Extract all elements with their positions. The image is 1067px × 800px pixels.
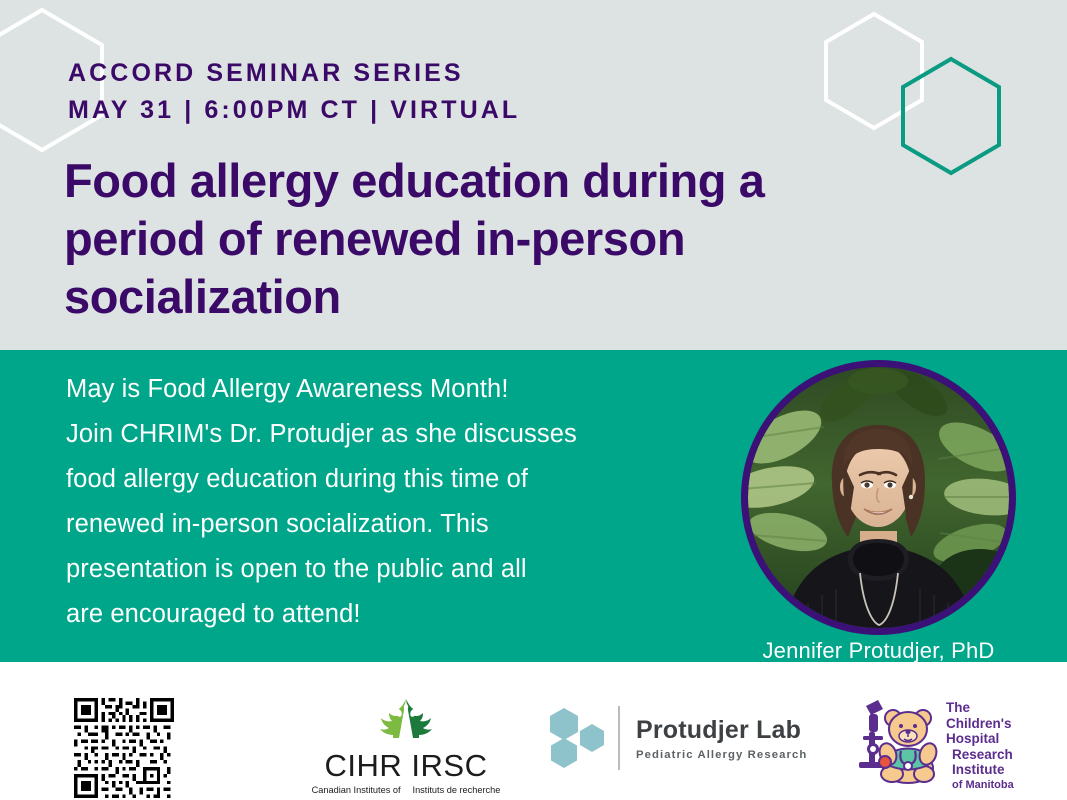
protudjer-lab-tagline: Pediatric Allergy Research <box>636 749 807 761</box>
chrim-line-4: Research <box>952 747 1014 763</box>
title-line-2: period of renewed in-person <box>64 210 1024 268</box>
description-line-2: Join CHRIM's Dr. Protudjer as she discus… <box>66 412 726 457</box>
description-line-6: are encouraged to attend! <box>66 592 726 637</box>
chrim-text: The Children's Hospital Research Institu… <box>946 700 1014 793</box>
qr-code[interactable] <box>74 698 174 798</box>
cihr-en-line1: Canadian Institutes of <box>312 785 401 797</box>
event-description: May is Food Allergy Awareness Month! Joi… <box>66 367 726 637</box>
cihr-logo: CIHR IRSC Canadian Institutes of Health … <box>296 697 516 800</box>
teddy-bear-microscope-icon <box>856 696 944 786</box>
speaker-name: Jennifer Protudjer, PhD <box>741 638 1016 664</box>
protudjer-lab-text: Protudjer Lab Pediatric Allergy Research <box>636 716 807 761</box>
event-meta: ACCORD SEMINAR SERIES MAY 31 | 6:00PM CT… <box>68 55 520 129</box>
cihr-subtitle-en: Canadian Institutes of Health Research <box>312 785 401 800</box>
chrim-line-1: The <box>946 700 1014 716</box>
hexagon-cluster-icon <box>548 706 606 770</box>
description-line-4: renewed in-person socialization. This <box>66 502 726 547</box>
divider <box>618 706 620 770</box>
chrim-line-6: of Manitoba <box>952 778 1014 794</box>
title-line-1: Food allergy education during a <box>64 152 1024 210</box>
description-line-5: presentation is open to the public and a… <box>66 547 726 592</box>
chrim-logo: The Children's Hospital Research Institu… <box>856 696 1014 793</box>
protudjer-lab-name: Protudjer Lab <box>636 716 807 744</box>
cihr-subtitle: Canadian Institutes of Health Research I… <box>296 785 516 800</box>
header-section: ACCORD SEMINAR SERIES MAY 31 | 6:00PM CT… <box>0 0 1067 350</box>
chrim-line-3: Hospital <box>946 731 1014 747</box>
speaker-photo <box>748 367 1009 628</box>
seminar-poster: ACCORD SEMINAR SERIES MAY 31 | 6:00PM CT… <box>0 0 1067 800</box>
maple-leaf-icon <box>373 697 439 744</box>
qr-code-icon <box>74 698 174 798</box>
series-name: ACCORD SEMINAR SERIES <box>68 55 520 92</box>
description-line-3: food allergy education during this time … <box>66 457 726 502</box>
cihr-subtitle-fr: Instituts de recherche en santé du Canad… <box>413 785 501 800</box>
chrim-line-2: Children's <box>946 716 1014 732</box>
cihr-fr-line1: Instituts de recherche <box>413 785 501 797</box>
title-line-3: socialization <box>64 268 1024 326</box>
page-title: Food allergy education during a period o… <box>64 152 1024 326</box>
protudjer-lab-logo: Protudjer Lab Pediatric Allergy Research <box>548 706 807 770</box>
chrim-line-5: Institute <box>952 762 1014 778</box>
cihr-wordmark: CIHR IRSC <box>296 750 516 782</box>
description-line-1: May is Food Allergy Awareness Month! <box>66 367 726 412</box>
event-datetime: MAY 31 | 6:00PM CT | VIRTUAL <box>68 92 520 129</box>
speaker-avatar <box>741 360 1016 635</box>
